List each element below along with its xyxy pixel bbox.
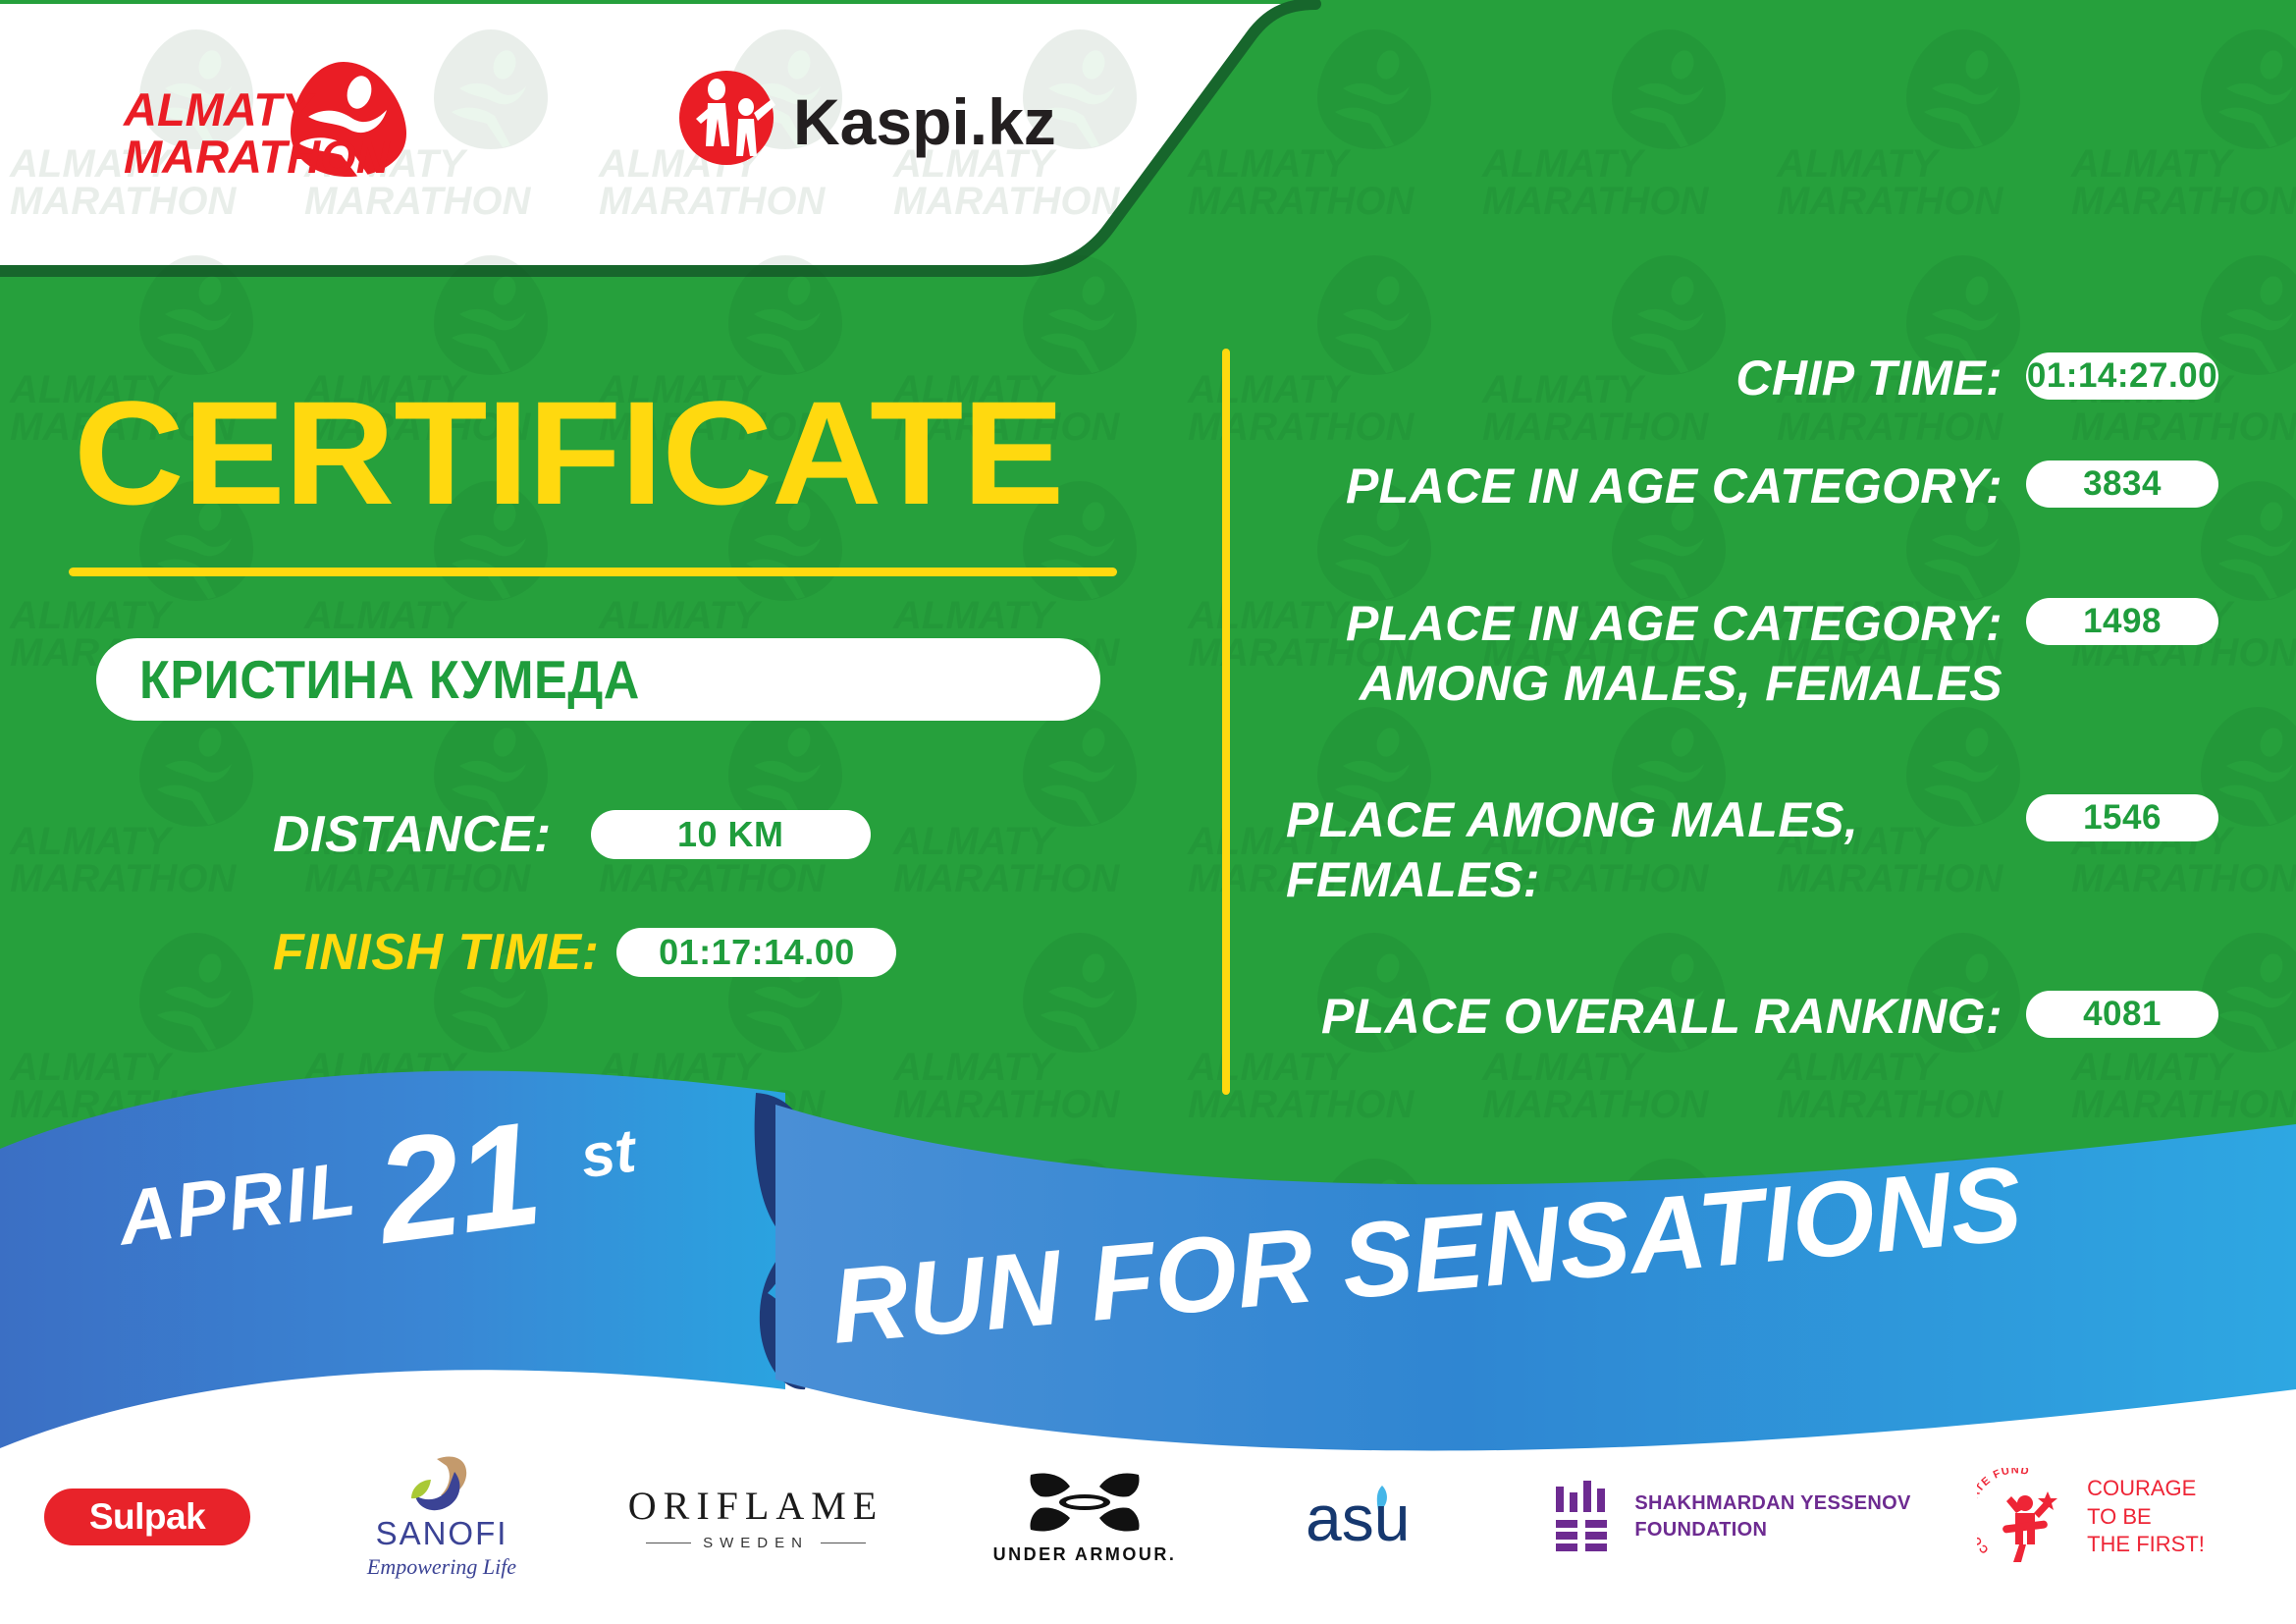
stat-row-place-among-males-females: PLACE AMONG MALES, FEMALES: 1546 — [1286, 790, 2218, 987]
place-among-males-females-value: 1546 — [2026, 794, 2218, 841]
stats-column: CHIP TIME: 01:14:27.00 PLACE IN AGE CATE… — [1286, 349, 2218, 1095]
title-underline — [69, 568, 1117, 576]
courage-line1: COURAGE — [2087, 1475, 2205, 1503]
finish-time-label: FINISH TIME: — [273, 923, 599, 982]
sponsor-sanofi: SANOFI Empowering Life — [294, 1454, 589, 1580]
sanofi-mark-icon — [398, 1454, 486, 1515]
sponsor-courage-fund: CORPORATE FUND COURAGE TO BE — [1924, 1468, 2258, 1566]
stat-row-place-age-category-among: PLACE IN AGE CATEGORY: AMONG MALES, FEMA… — [1286, 594, 2218, 790]
under-armour-mark-icon — [1021, 1469, 1148, 1540]
place-age-category-value: 3834 — [2026, 460, 2218, 508]
oriflame-wordmark: ORIFLAME — [628, 1483, 883, 1529]
place-among-males-females-label: PLACE AMONG MALES, FEMALES: — [1286, 790, 2002, 910]
yessenov-line2: FOUNDATION — [1634, 1517, 1910, 1543]
sponsor-sulpak: Sulpak — [0, 1489, 294, 1545]
distance-label: DISTANCE: — [273, 805, 552, 864]
place-age-category-among-label: PLACE IN AGE CATEGORY: AMONG MALES, FEMA… — [1286, 594, 2002, 714]
left-column: CERTIFICATE КРИСТИНА КУМЕДА DISTANCE: 10… — [0, 0, 1217, 1110]
courage-line3: THE FIRST! — [2087, 1531, 2205, 1559]
sanofi-wordmark: SANOFI — [376, 1515, 508, 1552]
place-overall-ranking-value: 4081 — [2026, 991, 2218, 1038]
page-title: CERTIFICATE — [74, 385, 1063, 520]
participant-name-value: КРИСТИНА КУМЕДА — [139, 648, 640, 711]
distance-value: 10 KM — [591, 810, 871, 859]
participant-name-field: КРИСТИНА КУМЕДА — [96, 638, 1100, 721]
sulpak-logo: Sulpak — [44, 1489, 250, 1545]
sanofi-tagline: Empowering Life — [367, 1554, 516, 1580]
oriflame-subtext: SWEDEN — [703, 1535, 809, 1551]
svg-text:asu: asu — [1306, 1482, 1410, 1554]
stat-row-chip-time: CHIP TIME: 01:14:27.00 — [1286, 349, 2218, 457]
yessenov-line1: SHAKHMARDAN YESSENOV — [1634, 1490, 1910, 1517]
stat-row-place-age-category: PLACE IN AGE CATEGORY: 3834 — [1286, 457, 2218, 594]
column-divider — [1222, 349, 1230, 1095]
sponsor-oriflame: ORIFLAME SWEDEN — [589, 1483, 923, 1551]
oriflame-rule-left — [646, 1543, 691, 1543]
ribbon-ordinal: st — [577, 1116, 640, 1193]
place-age-category-among-value: 1498 — [2026, 598, 2218, 645]
sponsor-yessenov-foundation: SHAKHMARDAN YESSENOV FOUNDATION — [1541, 1481, 1924, 1553]
finish-time-value: 01:17:14.00 — [616, 928, 896, 977]
chip-time-value: 01:14:27.00 — [2026, 352, 2218, 400]
yessenov-mark-icon — [1554, 1481, 1615, 1553]
distance-row: DISTANCE: 10 KM — [273, 805, 871, 864]
courage-fund-mark-icon: CORPORATE FUND — [1977, 1468, 2075, 1566]
asu-logo: asu — [1306, 1480, 1482, 1554]
place-age-category-label: PLACE IN AGE CATEGORY: — [1286, 457, 2002, 516]
sponsor-asu: asu — [1247, 1480, 1541, 1554]
certificate-canvas: ALMATY MARATHON ALMATY MARATHON — [0, 0, 2296, 1624]
finish-time-row: FINISH TIME: 01:17:14.00 — [273, 923, 896, 982]
sponsor-bar: Sulpak SANOFI Empowering Life ORIFLAME S… — [0, 1429, 2296, 1605]
oriflame-rule-right — [821, 1543, 866, 1543]
place-overall-ranking-label: PLACE OVERALL RANKING: — [1286, 987, 2002, 1047]
ribbon-day: 21 — [367, 1088, 548, 1277]
sponsor-under-armour: UNDER ARMOUR. — [923, 1469, 1247, 1565]
under-armour-wordmark: UNDER ARMOUR. — [993, 1544, 1177, 1565]
courage-line2: TO BE — [2087, 1503, 2205, 1532]
chip-time-label: CHIP TIME: — [1286, 349, 2002, 408]
